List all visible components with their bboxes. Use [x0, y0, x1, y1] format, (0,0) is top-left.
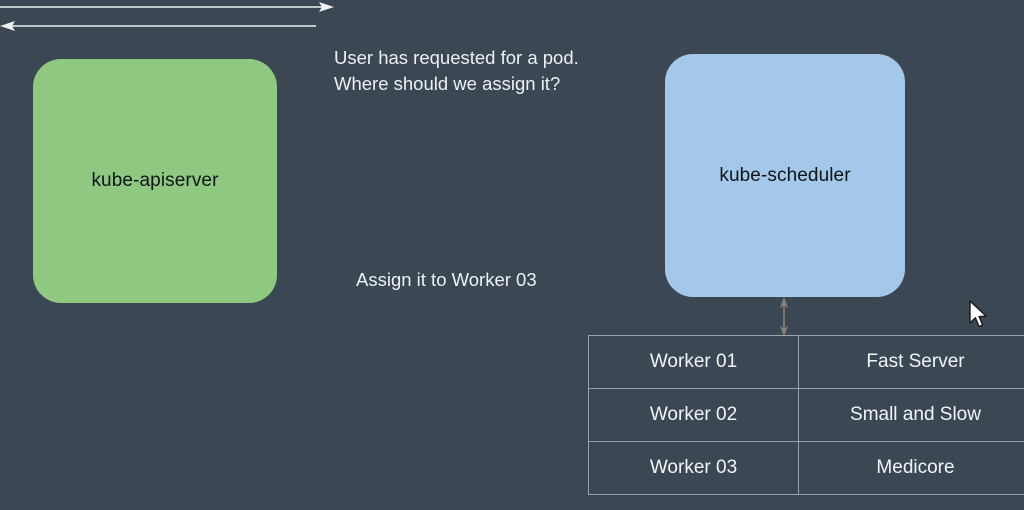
worker-name-cell: Worker 02: [589, 389, 799, 442]
node-kube-apiserver[interactable]: kube-apiserver: [33, 59, 277, 303]
node-kube-apiserver-label: kube-apiserver: [91, 170, 218, 192]
table-row: Worker 03 Medicore: [589, 442, 1024, 495]
worker-name-cell: Worker 01: [589, 336, 799, 389]
node-kube-scheduler[interactable]: kube-scheduler: [665, 54, 905, 297]
worker-table: Worker 01 Fast Server Worker 02 Small an…: [588, 335, 1024, 495]
arrow-scheduler-to-apiserver: [0, 19, 316, 38]
node-kube-scheduler-label: kube-scheduler: [719, 165, 850, 187]
mouse-pointer-icon: [968, 300, 990, 332]
diagram-canvas: kube-apiserver kube-scheduler User has r…: [0, 0, 1024, 510]
arrow-apiserver-to-scheduler: [0, 0, 334, 19]
worker-description-cell: Medicore: [799, 442, 1024, 495]
worker-description-cell: Small and Slow: [799, 389, 1024, 442]
arrow-scheduler-to-worker-table: [776, 297, 792, 337]
arrow-assign-caption: Assign it to Worker 03: [356, 267, 676, 293]
table-row: Worker 01 Fast Server: [589, 336, 1024, 389]
table-row: Worker 02 Small and Slow: [589, 389, 1024, 442]
arrow-request-caption: User has requested for a pod. Where shou…: [334, 45, 654, 97]
worker-name-cell: Worker 03: [589, 442, 799, 495]
worker-description-cell: Fast Server: [799, 336, 1024, 389]
